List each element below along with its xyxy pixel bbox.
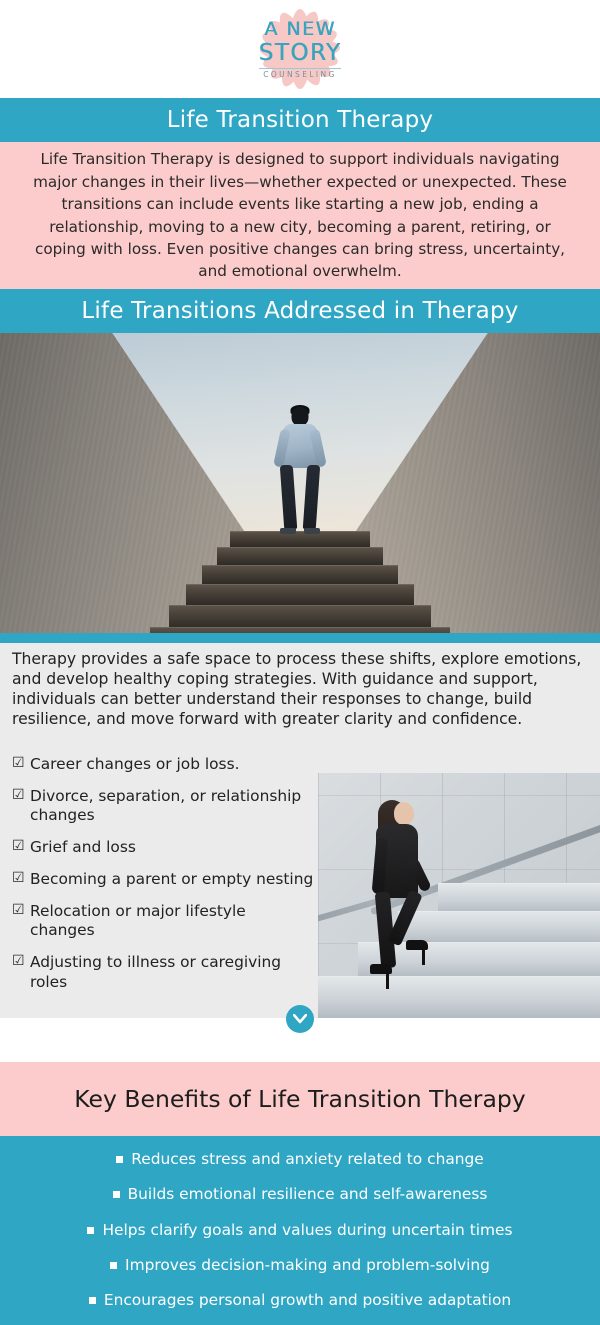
list-item: Builds emotional resilience and self-awa… bbox=[0, 1185, 600, 1204]
list-item: Reduces stress and anxiety related to ch… bbox=[0, 1150, 600, 1169]
list-item-label: Helps clarify goals and values during un… bbox=[102, 1221, 512, 1240]
circled-check-icon: ☑ bbox=[12, 755, 30, 773]
section-header-life-transition-therapy: Life Transition Therapy bbox=[0, 98, 600, 142]
list-item-label: Grief and loss bbox=[30, 838, 136, 858]
list-item-label: Relocation or major lifestyle changes bbox=[30, 902, 314, 941]
list-item-label: Adjusting to illness or caregiving roles bbox=[30, 953, 314, 992]
square-bullet-icon bbox=[110, 1262, 117, 1269]
list-item: ☑ Career changes or job loss. bbox=[12, 755, 314, 775]
chevron-down-icon bbox=[293, 1014, 307, 1024]
list-item-label: Reduces stress and anxiety related to ch… bbox=[131, 1150, 484, 1169]
header-2-title: Life Transitions Addressed in Therapy bbox=[81, 298, 518, 324]
side-image-woman-figure bbox=[364, 794, 450, 994]
body-paragraph-text: Therapy provides a safe space to process… bbox=[12, 650, 600, 730]
list-item: ☑ Becoming a parent or empty nesting bbox=[12, 870, 314, 890]
list-item-label: Builds emotional resilience and self-awa… bbox=[128, 1185, 488, 1204]
list-item-label: Career changes or job loss. bbox=[30, 755, 240, 775]
transitions-checklist: ☑ Career changes or job loss. ☑ Divorce,… bbox=[12, 755, 314, 1004]
hero-staircase bbox=[170, 525, 430, 633]
brand-logo[interactable]: A NEW STORY COUNSELING bbox=[225, 3, 375, 95]
logo-line-3: COUNSELING bbox=[259, 68, 342, 79]
list-item-label: Becoming a parent or empty nesting bbox=[30, 870, 313, 890]
list-item: ☑ Grief and loss bbox=[12, 838, 314, 858]
body-section: Therapy provides a safe space to process… bbox=[0, 643, 600, 1018]
list-item: ☑ Divorce, separation, or relationship c… bbox=[12, 787, 314, 826]
benefits-header-title: Key Benefits of Life Transition Therapy bbox=[74, 1085, 525, 1113]
logo-band: A NEW STORY COUNSELING bbox=[0, 0, 600, 98]
list-item: Improves decision-making and problem-sol… bbox=[0, 1256, 600, 1275]
hero-image-man-on-stairs bbox=[0, 333, 600, 633]
square-bullet-icon bbox=[113, 1191, 120, 1198]
circled-check-icon: ☑ bbox=[12, 870, 30, 888]
list-item-label: Improves decision-making and problem-sol… bbox=[125, 1256, 490, 1275]
section-header-transitions-addressed: Life Transitions Addressed in Therapy bbox=[0, 289, 600, 333]
circled-check-icon: ☑ bbox=[12, 787, 30, 805]
header-1-title: Life Transition Therapy bbox=[167, 107, 433, 133]
teal-divider-strip bbox=[0, 633, 600, 643]
list-item: Helps clarify goals and values during un… bbox=[0, 1221, 600, 1240]
list-item: Encourages personal growth and positive … bbox=[0, 1291, 600, 1310]
side-image-woman-climbing-stairs bbox=[318, 773, 600, 1018]
benefits-list: Reduces stress and anxiety related to ch… bbox=[0, 1136, 600, 1325]
circled-check-icon: ☑ bbox=[12, 953, 30, 971]
square-bullet-icon bbox=[87, 1227, 94, 1234]
list-item-label: Divorce, separation, or relationship cha… bbox=[30, 787, 314, 826]
section-header-key-benefits: Key Benefits of Life Transition Therapy bbox=[0, 1062, 600, 1136]
square-bullet-icon bbox=[116, 1156, 123, 1163]
list-item: ☑ Adjusting to illness or caregiving rol… bbox=[12, 953, 314, 992]
list-item: ☑ Relocation or major lifestyle changes bbox=[12, 902, 314, 941]
hero-person-silhouette bbox=[271, 407, 329, 535]
square-bullet-icon bbox=[89, 1297, 96, 1304]
logo-line-1: A NEW bbox=[259, 20, 342, 39]
logo-line-2: STORY bbox=[259, 42, 342, 65]
logo-wordmark: A NEW STORY COUNSELING bbox=[259, 20, 342, 79]
intro-paragraph-text: Life Transition Therapy is designed to s… bbox=[22, 148, 578, 282]
infographic-page: A NEW STORY COUNSELING Life Transition T… bbox=[0, 0, 600, 1325]
list-item-label: Encourages personal growth and positive … bbox=[104, 1291, 511, 1310]
circled-check-icon: ☑ bbox=[12, 902, 30, 920]
scroll-down-button[interactable] bbox=[286, 1005, 314, 1033]
intro-paragraph-block: Life Transition Therapy is designed to s… bbox=[0, 142, 600, 289]
circled-check-icon: ☑ bbox=[12, 838, 30, 856]
